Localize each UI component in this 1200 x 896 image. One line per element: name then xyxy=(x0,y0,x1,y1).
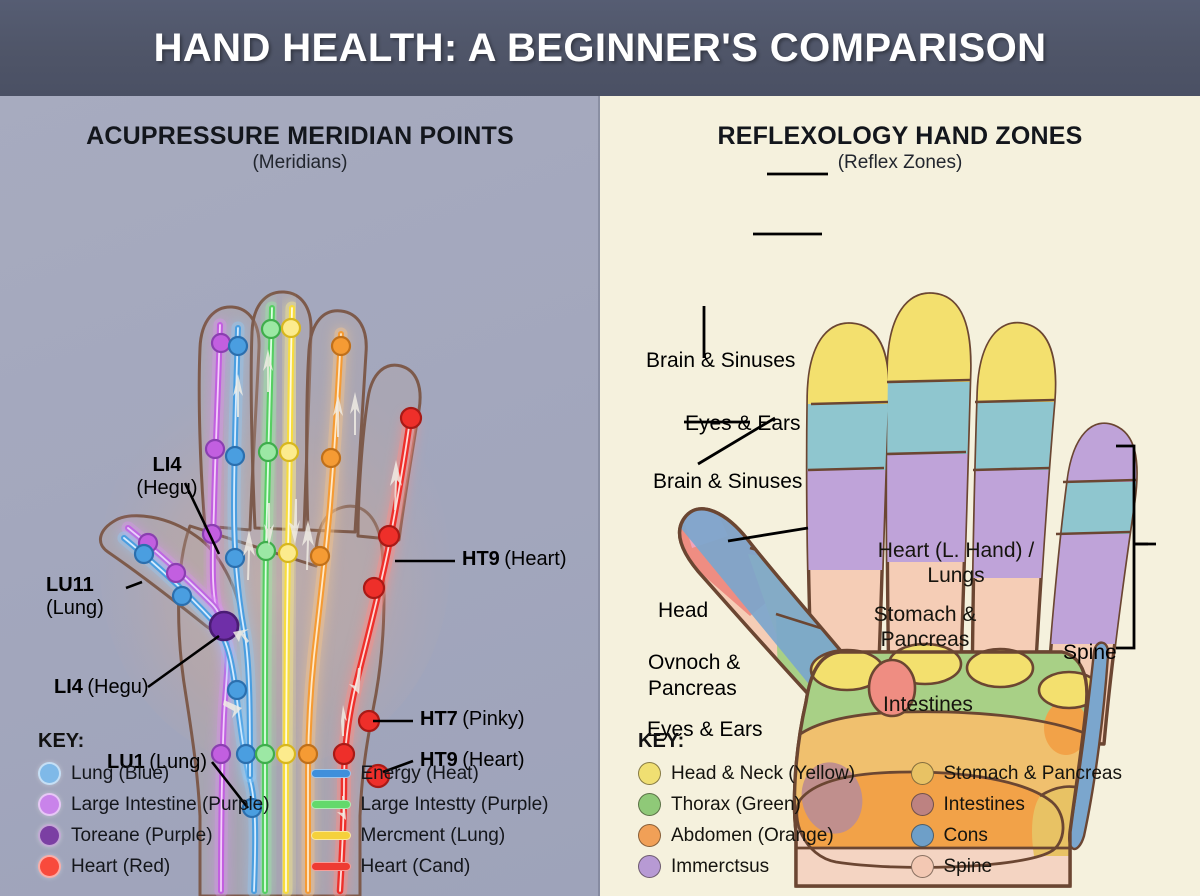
key-item-label: Toreane (Purple) xyxy=(71,825,213,847)
key-item-label: Heart (Cand) xyxy=(361,856,471,878)
reflexology-key: KEY: Head & Neck (Yellow) Thorax (Green)… xyxy=(638,730,1183,882)
key-item-intestines: Intestines xyxy=(911,789,1184,820)
swatch-dot-icon xyxy=(38,793,61,816)
zone-label-stomach-pancreas-line1: Stomach & xyxy=(825,603,1025,628)
key-item-label: Large Intestty (Purple) xyxy=(361,794,549,816)
reflexology-panel: REFLEXOLOGY HAND ZONES (Reflex Zones) xyxy=(600,96,1200,896)
callout-lu11: LU11 (Lung) xyxy=(46,574,132,620)
callout-ht7: HT7 (Pinky) xyxy=(420,708,524,731)
zone-label-heart-lungs-line2: Lungs xyxy=(841,564,1071,589)
callout-brain-sinuses-2: Brain & Sinuses xyxy=(653,470,802,494)
key-item-label: Energy (Heat) xyxy=(361,763,479,785)
callout-ht9-top-paren: (Heart) xyxy=(504,548,566,570)
pinky-finger-zones xyxy=(1050,406,1170,644)
callout-stomach-pancreas-thumb: Ovnoch & Pancreas xyxy=(648,650,740,701)
callout-ht7-paren: (Pinky) xyxy=(462,708,524,730)
callout-li4-top-paren: (Hegu) xyxy=(124,477,210,500)
reflexology-key-title: KEY: xyxy=(638,730,1183,753)
key-item-stomach-pancreas: Stomach & Pancreas xyxy=(911,758,1184,789)
acupressure-panel: ACUPRESSURE MERIDIAN POINTS (Meridians) xyxy=(0,96,600,896)
callout-li4-top-code: LI4 xyxy=(124,454,210,477)
infographic-root: HAND HEALTH: A BEGINNER'S COMPARISON ACU… xyxy=(0,0,1200,896)
callout-lu11-paren: (Lung) xyxy=(46,597,132,620)
key-item-toreane: Toreane (Purple) xyxy=(38,820,311,851)
swatch-dot-icon xyxy=(911,762,934,785)
key-item-large-intestty: Large Intestty (Purple) xyxy=(311,789,584,820)
key-item-immerctsus: Immerctsus xyxy=(638,851,911,882)
key-item-label: Spine xyxy=(944,856,993,878)
swatch-dot-icon xyxy=(638,762,661,785)
page-header: HAND HEALTH: A BEGINNER'S COMPARISON xyxy=(0,0,1200,96)
key-item-label: Heart (Red) xyxy=(71,856,170,878)
key-item-large-intestine: Large Intestine (Purple) xyxy=(38,789,311,820)
swatch-bar-icon xyxy=(311,800,351,809)
key-item-cons: Cons xyxy=(911,820,1184,851)
key-item-label: Large Intestine (Purple) xyxy=(71,794,270,816)
callout-ht9-top: HT9 (Heart) xyxy=(462,548,566,571)
key-item-heart-red: Heart (Red) xyxy=(38,851,311,882)
zone-label-heart-lungs-line1: Heart (L. Hand) / xyxy=(841,539,1071,564)
callout-li4-top: LI4 (Hegu) xyxy=(124,454,210,500)
key-item-label: Mercment (Lung) xyxy=(361,825,506,847)
key-item-label: Immerctsus xyxy=(671,856,769,878)
callout-li4-mid-code: LI4 xyxy=(54,676,83,698)
key-item-label: Head & Neck (Yellow) xyxy=(671,763,855,785)
callout-li4-mid: LI4 (Hegu) xyxy=(54,676,149,699)
callout-stomach-pancreas-thumb-line2: Pancreas xyxy=(648,676,740,702)
key-item-label: Abdomen (Orange) xyxy=(671,825,834,847)
callout-head: Head xyxy=(658,599,708,623)
key-item-label: Cons xyxy=(944,825,988,847)
acupressure-key-column-left: Lung (Blue) Large Intestine (Purple) Tor… xyxy=(38,758,311,882)
swatch-bar-icon xyxy=(311,831,351,840)
zone-label-stomach-pancreas: Stomach & Pancreas xyxy=(825,603,1025,653)
swatch-dot-icon xyxy=(638,855,661,878)
acupressure-key-title: KEY: xyxy=(38,730,583,753)
swatch-bar-icon xyxy=(311,769,351,778)
swatch-dot-icon xyxy=(911,855,934,878)
callout-li4-mid-paren: (Hegu) xyxy=(87,676,148,698)
reflexology-key-column-right: Stomach & Pancreas Intestines Cons Spine xyxy=(911,758,1184,882)
key-item-head-neck: Head & Neck (Yellow) xyxy=(638,758,911,789)
swatch-dot-icon xyxy=(38,762,61,785)
callout-lu11-code: LU11 xyxy=(46,574,132,597)
key-item-heart-cand: Heart (Cand) xyxy=(311,851,584,882)
zone-label-stomach-pancreas-line2: Pancreas xyxy=(825,628,1025,653)
swatch-dot-icon xyxy=(638,824,661,847)
zone-label-heart-lungs: Heart (L. Hand) / Lungs xyxy=(841,539,1071,589)
key-item-label: Stomach & Pancreas xyxy=(944,763,1122,785)
swatch-dot-icon xyxy=(38,855,61,878)
key-item-abdomen: Abdomen (Orange) xyxy=(638,820,911,851)
zone-label-intestines: Intestines xyxy=(828,693,1028,717)
swatch-dot-icon xyxy=(911,793,934,816)
swatch-dot-icon xyxy=(638,793,661,816)
key-item-energy-heat: Energy (Heat) xyxy=(311,758,584,789)
callout-stomach-pancreas-thumb-line1: Ovnoch & xyxy=(648,650,740,676)
key-item-label: Thorax (Green) xyxy=(671,794,801,816)
key-item-spine: Spine xyxy=(911,851,1184,882)
callout-spine: Spine xyxy=(1063,641,1117,665)
reflexology-key-column-left: Head & Neck (Yellow) Thorax (Green) Abdo… xyxy=(638,758,911,882)
callout-ht7-code: HT7 xyxy=(420,708,458,730)
acupressure-key: KEY: Lung (Blue) Large Intestine (Purple… xyxy=(38,730,583,882)
callout-eyes-ears-1: Eyes & Ears xyxy=(685,412,801,436)
page-title: HAND HEALTH: A BEGINNER'S COMPARISON xyxy=(154,26,1047,71)
acupressure-key-column-right: Energy (Heat) Large Intestty (Purple) Me… xyxy=(311,758,584,882)
swatch-dot-icon xyxy=(911,824,934,847)
key-item-thorax: Thorax (Green) xyxy=(638,789,911,820)
callout-brain-sinuses-1: Brain & Sinuses xyxy=(646,349,795,373)
key-item-label: Intestines xyxy=(944,794,1025,816)
swatch-bar-icon xyxy=(311,862,351,871)
callout-ht9-top-code: HT9 xyxy=(462,548,500,570)
key-item-mercment: Mercment (Lung) xyxy=(311,820,584,851)
key-item-lung-blue: Lung (Blue) xyxy=(38,758,311,789)
swatch-dot-icon xyxy=(38,824,61,847)
key-item-label: Lung (Blue) xyxy=(71,763,169,785)
